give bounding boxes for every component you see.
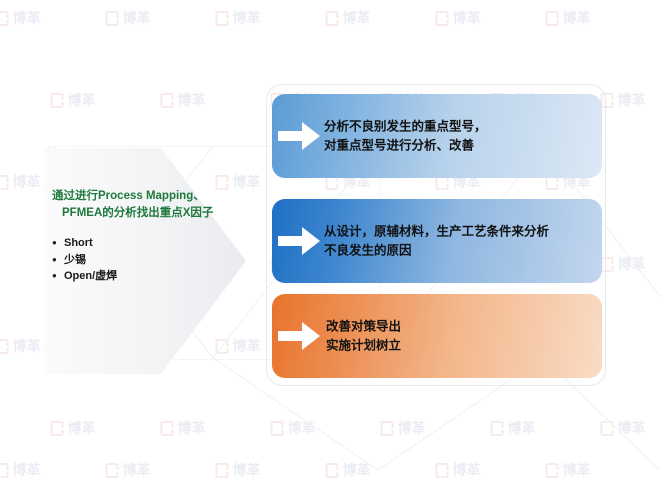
headline-line-1: 通过进行Process Mapping、 (52, 190, 205, 202)
watermark-text: 博革 (123, 460, 151, 480)
watermark: 博革 (271, 418, 316, 438)
watermark-text: 博革 (453, 8, 481, 28)
step-card-1[interactable]: 分析不良别发生的重点型号， 对重点型号进行分析、改善 (272, 94, 602, 178)
watermark-text: 博革 (618, 418, 646, 438)
bg-logo-icon (0, 463, 9, 478)
watermark-text: 博革 (563, 460, 591, 480)
bg-logo-icon (381, 421, 394, 436)
watermark-text: 博革 (398, 418, 426, 438)
bg-logo-icon (216, 463, 229, 478)
watermark-text: 博革 (13, 8, 41, 28)
bg-logo-icon (546, 11, 559, 26)
step-card-3[interactable]: 改善对策导出 实施计划树立 (272, 294, 602, 378)
bg-logo-icon (161, 93, 174, 108)
watermark: 博革 (436, 460, 481, 480)
watermark: 博革 (326, 8, 371, 28)
watermark: 博革 (546, 8, 591, 28)
watermark: 博革 (51, 90, 96, 110)
step-2-line-1: 从设计，原辅材料，生产工艺条件来分析 (324, 222, 594, 241)
step-2-line-2: 不良发生的原因 (324, 241, 594, 260)
watermark: 博革 (381, 418, 426, 438)
watermark: 博革 (601, 254, 646, 274)
watermark-text: 博革 (618, 90, 646, 110)
bg-logo-icon (0, 339, 9, 354)
watermark: 博革 (0, 460, 41, 480)
watermark-text: 博革 (123, 8, 151, 28)
bg-logo-icon (326, 11, 339, 26)
arrow-right-icon (278, 321, 320, 351)
watermark-text: 博革 (13, 336, 41, 356)
bg-logo-icon (161, 421, 174, 436)
watermark-text: 博革 (13, 172, 41, 192)
list-item: Open/虚焊 (52, 268, 242, 285)
bg-logo-icon (51, 93, 64, 108)
watermark: 博革 (601, 418, 646, 438)
watermark: 博革 (601, 90, 646, 110)
watermark: 博革 (216, 460, 261, 480)
watermark-text: 博革 (68, 90, 96, 110)
bg-logo-icon (601, 421, 614, 436)
step-1-line-2: 对重点型号进行分析、改善 (324, 136, 594, 155)
left-text-block: 通过进行Process Mapping、 PFMEA的分析找出重点X因子 Sho… (52, 188, 242, 285)
watermark: 博革 (106, 8, 151, 28)
headline-line-2: PFMEA的分析找出重点X因子 (52, 205, 242, 222)
watermark: 博革 (216, 8, 261, 28)
step-3-line-1: 改善对策导出 (326, 317, 594, 336)
step-card-2-text: 从设计，原辅材料，生产工艺条件来分析 不良发生的原因 (324, 222, 594, 261)
bg-logo-icon (51, 421, 64, 436)
watermark-text: 博革 (453, 460, 481, 480)
bg-logo-icon (546, 463, 559, 478)
slide-canvas: 博革博革博革博革博革博革博革博革博革博革博革博革博革博革博革博革博革博革博革博革… (0, 0, 660, 495)
watermark-text: 博革 (233, 460, 261, 480)
arrow-right-icon (278, 121, 320, 151)
bg-logo-icon (0, 11, 9, 26)
watermark: 博革 (546, 460, 591, 480)
watermark-text: 博革 (288, 418, 316, 438)
watermark-text: 博革 (563, 8, 591, 28)
watermark: 博革 (326, 460, 371, 480)
page-headline: 通过进行Process Mapping、 PFMEA的分析找出重点X因子 (52, 188, 242, 221)
bg-logo-icon (106, 11, 119, 26)
step-card-3-text: 改善对策导出 实施计划树立 (326, 317, 594, 356)
step-1-line-1: 分析不良别发生的重点型号， (324, 117, 594, 136)
list-item: 少锡 (52, 252, 242, 269)
watermark: 博革 (436, 8, 481, 28)
bg-logo-icon (436, 463, 449, 478)
watermark-text: 博革 (13, 460, 41, 480)
step-card-2[interactable]: 从设计，原辅材料，生产工艺条件来分析 不良发生的原因 (272, 199, 602, 283)
watermark-text: 博革 (343, 460, 371, 480)
watermark: 博革 (51, 418, 96, 438)
arrow-right-icon (278, 226, 320, 256)
step-card-1-text: 分析不良别发生的重点型号， 对重点型号进行分析、改善 (324, 117, 594, 156)
watermark: 博革 (161, 90, 206, 110)
watermark: 博革 (161, 418, 206, 438)
watermark: 博革 (0, 336, 41, 356)
watermark-text: 博革 (68, 418, 96, 438)
watermark: 博革 (106, 460, 151, 480)
watermark-text: 博革 (233, 8, 261, 28)
bg-logo-icon (216, 11, 229, 26)
watermark: 博革 (491, 418, 536, 438)
bg-logo-icon (436, 11, 449, 26)
watermark-text: 博革 (178, 418, 206, 438)
watermark-text: 博革 (508, 418, 536, 438)
bg-logo-icon (0, 175, 9, 190)
bg-logo-icon (326, 463, 339, 478)
step-3-line-2: 实施计划树立 (326, 336, 594, 355)
list-item: Short (52, 235, 242, 252)
watermark-text: 博革 (343, 8, 371, 28)
bg-logo-icon (106, 463, 119, 478)
bg-logo-icon (491, 421, 504, 436)
x-factor-bullet-list: Short 少锡 Open/虚焊 (52, 235, 242, 285)
watermark-text: 博革 (618, 254, 646, 274)
watermark: 博革 (0, 8, 41, 28)
watermark-text: 博革 (178, 90, 206, 110)
watermark: 博革 (0, 172, 41, 192)
bg-logo-icon (271, 421, 284, 436)
